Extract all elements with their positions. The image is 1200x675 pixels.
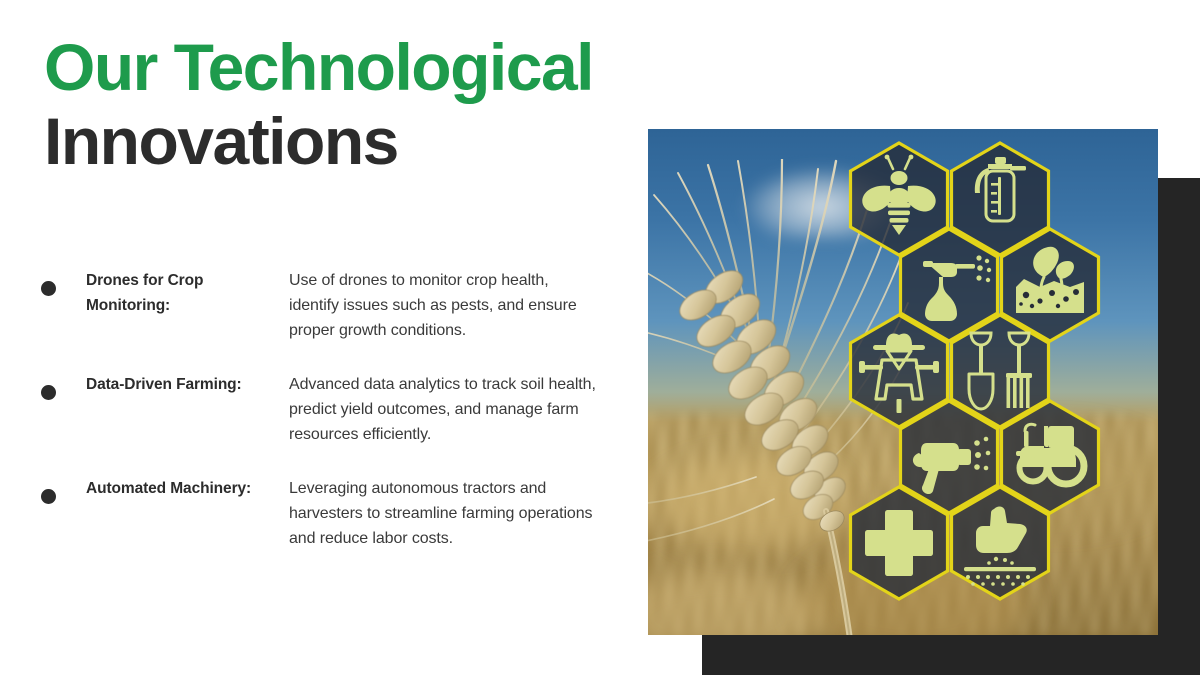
list-item: Automated Machinery: Leveraging autonomo… bbox=[41, 476, 601, 551]
list-item: Drones for Crop Monitoring: Use of drone… bbox=[41, 268, 601, 343]
list-item-term: Data-Driven Farming: bbox=[86, 372, 289, 397]
field-blur-blob bbox=[948, 429, 1158, 524]
list-item-description: Leveraging autonomous tractors and harve… bbox=[289, 476, 601, 551]
bullet-dot-icon bbox=[41, 489, 56, 504]
title-line-secondary: Innovations bbox=[44, 104, 593, 178]
bullet-dot-icon bbox=[41, 385, 56, 400]
list-item-description: Use of drones to monitor crop health, id… bbox=[289, 268, 601, 343]
list-item-term: Automated Machinery: bbox=[86, 476, 289, 501]
innovations-list: Drones for Crop Monitoring: Use of drone… bbox=[41, 268, 601, 580]
bullet-dot-icon bbox=[41, 281, 56, 296]
wheat-field-photo bbox=[648, 129, 1158, 635]
list-item-term: Drones for Crop Monitoring: bbox=[86, 268, 289, 318]
list-item-description: Advanced data analytics to track soil he… bbox=[289, 372, 601, 447]
photo-bottom-mask bbox=[0, 635, 702, 675]
page-title: Our Technological Innovations bbox=[44, 30, 593, 178]
wheat-ear-illustration bbox=[648, 159, 948, 635]
list-item: Data-Driven Farming: Advanced data analy… bbox=[41, 372, 601, 447]
title-line-primary: Our Technological bbox=[44, 30, 593, 104]
